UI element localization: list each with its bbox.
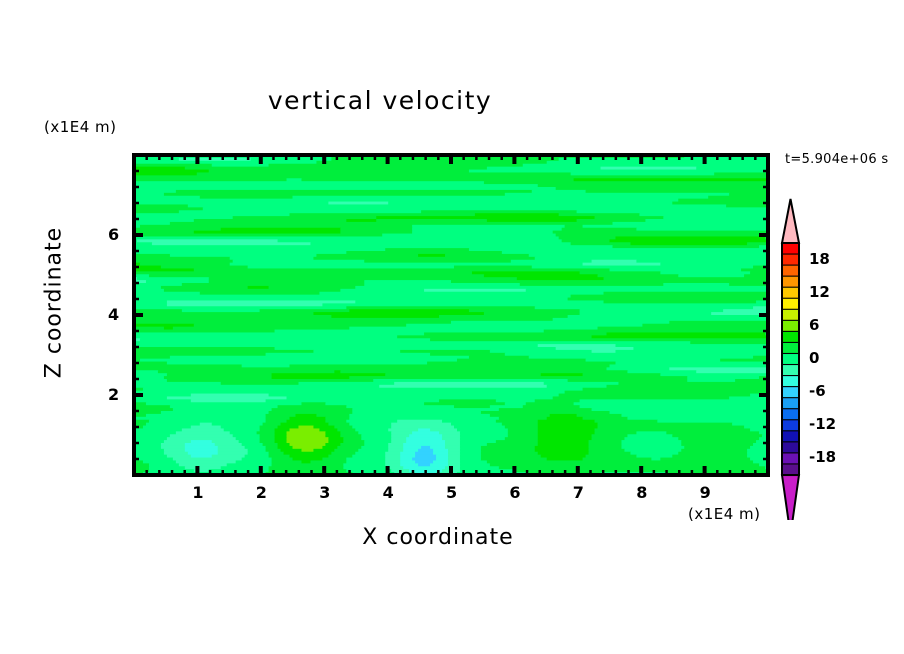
colorbar-tick-label: 0 bbox=[809, 349, 819, 367]
y-axis-unit-label: (x1E4 m) bbox=[44, 118, 117, 136]
x-axis-unit-label: (x1E4 m) bbox=[688, 505, 761, 523]
x-axis-title: X coordinate bbox=[268, 525, 608, 550]
colorbar-tick-label: -18 bbox=[809, 448, 836, 466]
y-tick-label: 6 bbox=[108, 225, 119, 244]
plot-axes bbox=[118, 140, 798, 500]
x-tick-label: 9 bbox=[700, 483, 711, 502]
y-tick-label: 2 bbox=[108, 385, 119, 404]
colorbar-tick-label: -12 bbox=[809, 415, 836, 433]
x-tick-label: 3 bbox=[319, 483, 330, 502]
x-tick-label: 7 bbox=[573, 483, 584, 502]
colorbar-tick-label: 18 bbox=[809, 250, 830, 268]
timestamp-annotation: t=5.904e+06 s bbox=[785, 152, 888, 167]
x-tick-label: 2 bbox=[256, 483, 267, 502]
colorbar-tick-label: 12 bbox=[809, 283, 830, 301]
colorbar-tick-label: 6 bbox=[809, 316, 819, 334]
x-tick-label: 1 bbox=[192, 483, 203, 502]
figure-canvas: vertical velocity (x1E4 m) (x1E4 m) t=5.… bbox=[0, 0, 904, 654]
x-tick-label: 4 bbox=[383, 483, 394, 502]
y-axis-title: Z coordinate bbox=[42, 213, 67, 393]
colorbar-tick-label: -6 bbox=[809, 382, 826, 400]
page-title: vertical velocity bbox=[0, 86, 760, 115]
x-tick-label: 5 bbox=[446, 483, 457, 502]
x-tick-label: 8 bbox=[636, 483, 647, 502]
x-tick-label: 6 bbox=[509, 483, 520, 502]
y-tick-label: 4 bbox=[108, 305, 119, 324]
